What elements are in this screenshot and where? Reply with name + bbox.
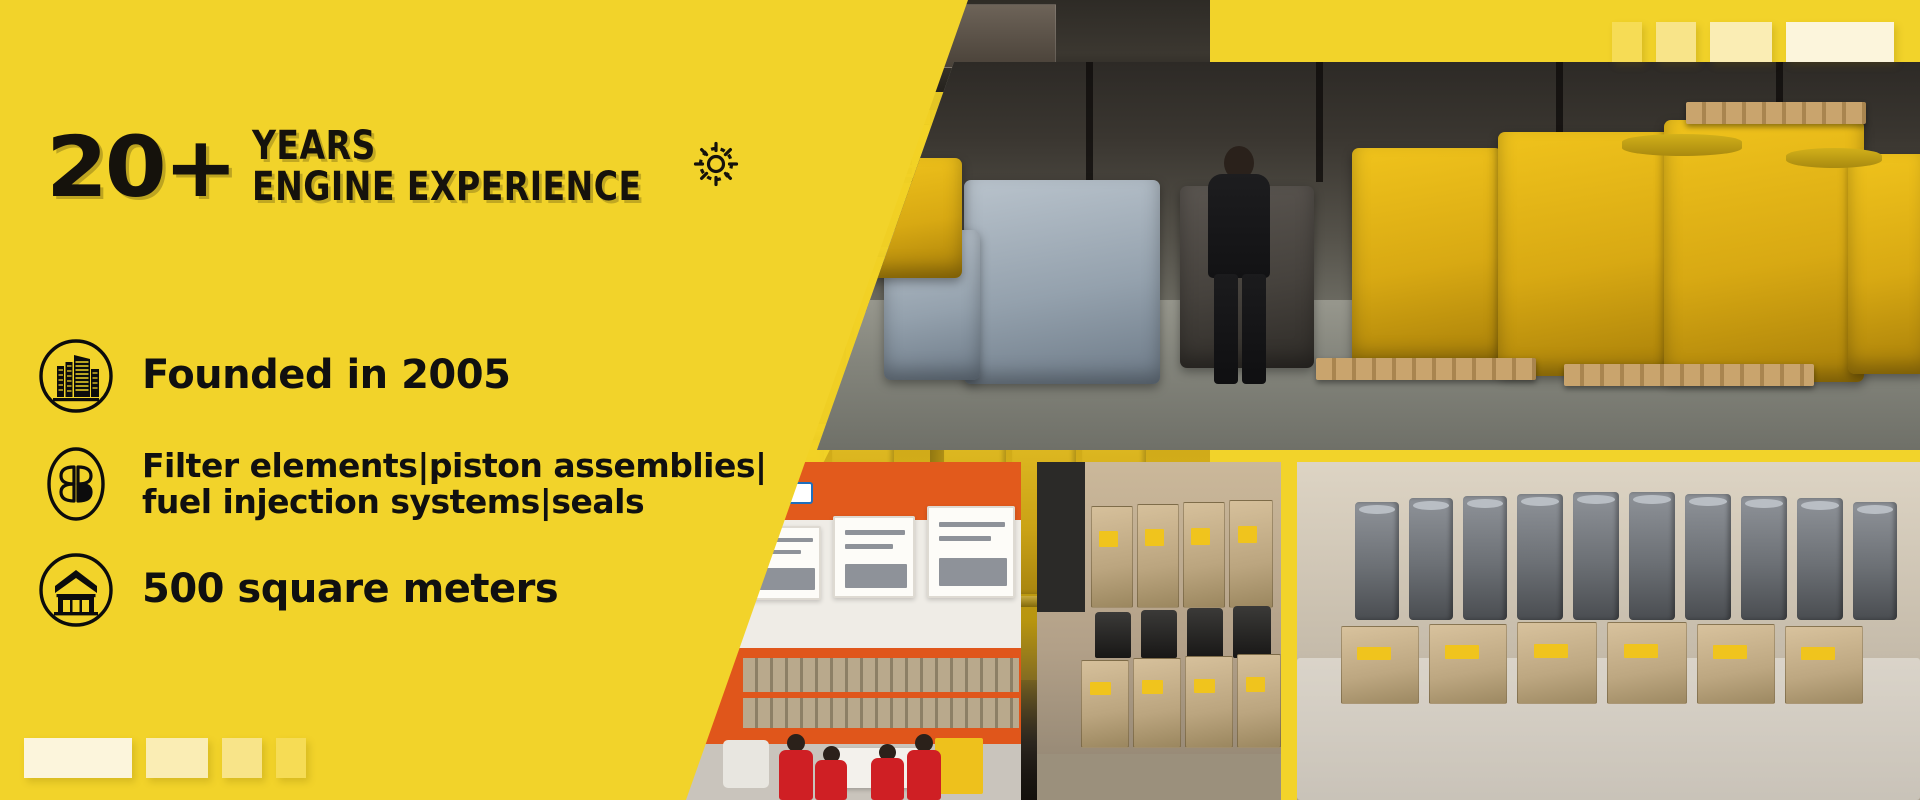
shipping-carton: [1697, 624, 1775, 704]
engine-exhaust-pipe: [1786, 148, 1882, 168]
headline-line-1: YEARS: [252, 126, 642, 167]
worker-leg: [1214, 274, 1238, 384]
left-content-panel: 20+ YEARS ENGINE EXPERIENCE: [0, 0, 1010, 800]
cylinder-liner: [1463, 496, 1507, 620]
swatch-bar-2: [1656, 22, 1696, 62]
dark-wall-edge: [1037, 462, 1085, 612]
cylinder-liner: [1409, 498, 1453, 620]
wood-pallet: [1686, 102, 1866, 124]
wood-pallet: [1564, 364, 1814, 386]
packed-cartons-photo: [1037, 462, 1281, 800]
shipping-carton: [1081, 660, 1129, 748]
cylinder-liner: [1355, 502, 1399, 620]
black-engine-part: [1233, 606, 1271, 658]
shipping-carton: [1183, 502, 1225, 608]
engine-exhaust-pipe: [1622, 134, 1742, 156]
roof-rafter: [1316, 62, 1323, 182]
banner-stage: 20+ YEARS ENGINE EXPERIENCE: [0, 0, 1920, 800]
black-engine-part: [1141, 610, 1177, 658]
yellow-engine: [1352, 148, 1502, 364]
cylinder-liner: [1517, 494, 1563, 620]
shipping-carton: [1137, 504, 1179, 608]
decorative-swatches-top-right: [1612, 22, 1894, 62]
cylinder-liners-photo: [1297, 462, 1920, 800]
shipping-carton: [1785, 626, 1863, 704]
shipping-carton: [1341, 626, 1419, 704]
yellow-engine: [1848, 154, 1920, 374]
headline-lines: YEARS ENGINE EXPERIENCE: [252, 126, 675, 208]
cylinder-liner: [1685, 494, 1731, 620]
black-engine-part: [1187, 608, 1223, 658]
yellow-engine: [1498, 132, 1674, 376]
shipping-carton: [1185, 656, 1233, 748]
shipping-carton: [1091, 506, 1133, 608]
headline-block: 20+ YEARS ENGINE EXPERIENCE: [46, 126, 740, 208]
storage-floor: [1037, 754, 1281, 800]
feature-label-area: 500 square meters: [142, 569, 558, 611]
feature-label-founded: Founded in 2005: [142, 355, 510, 397]
cylinder-liner: [1629, 492, 1675, 620]
cylinder-liner: [1741, 496, 1787, 620]
shipping-carton: [1237, 654, 1281, 748]
worker-leg: [1242, 274, 1266, 384]
shipping-carton: [1517, 622, 1597, 704]
wood-pallet: [1316, 358, 1536, 380]
filter-elements-icon: [38, 446, 114, 522]
feature-label-products: Filter elements|piston assemblies| fuel …: [142, 448, 767, 521]
building-icon: [38, 338, 114, 414]
headline-line-2: ENGINE EXPERIENCE: [252, 167, 642, 208]
feature-row-area: 500 square meters: [38, 552, 778, 628]
feature-row-products: Filter elements|piston assemblies| fuel …: [38, 446, 778, 522]
warehouse-icon: [38, 552, 114, 628]
feature-row-founded: Founded in 2005: [38, 338, 778, 414]
cylinder-liner: [1573, 492, 1619, 620]
swatch-bar-1: [1612, 22, 1642, 62]
headline-row: 20+ YEARS ENGINE EXPERIENCE: [46, 126, 740, 208]
roof-rafter: [1086, 62, 1093, 182]
swatch-bar-3: [1710, 22, 1772, 62]
black-engine-part: [1095, 612, 1131, 658]
swatch-bar-4: [1786, 22, 1894, 62]
gear-icon: [692, 140, 740, 193]
shipping-carton: [1429, 624, 1507, 704]
shipping-carton: [1133, 658, 1181, 748]
years-number: 20+: [46, 131, 235, 203]
shipping-carton: [1229, 500, 1273, 608]
worker-torso: [1208, 174, 1270, 278]
cylinder-liner: [1797, 498, 1843, 620]
feature-list: Founded in 2005 Filter elements|piston a…: [38, 338, 778, 660]
shipping-carton: [1607, 622, 1687, 704]
cylinder-liner: [1853, 502, 1897, 620]
